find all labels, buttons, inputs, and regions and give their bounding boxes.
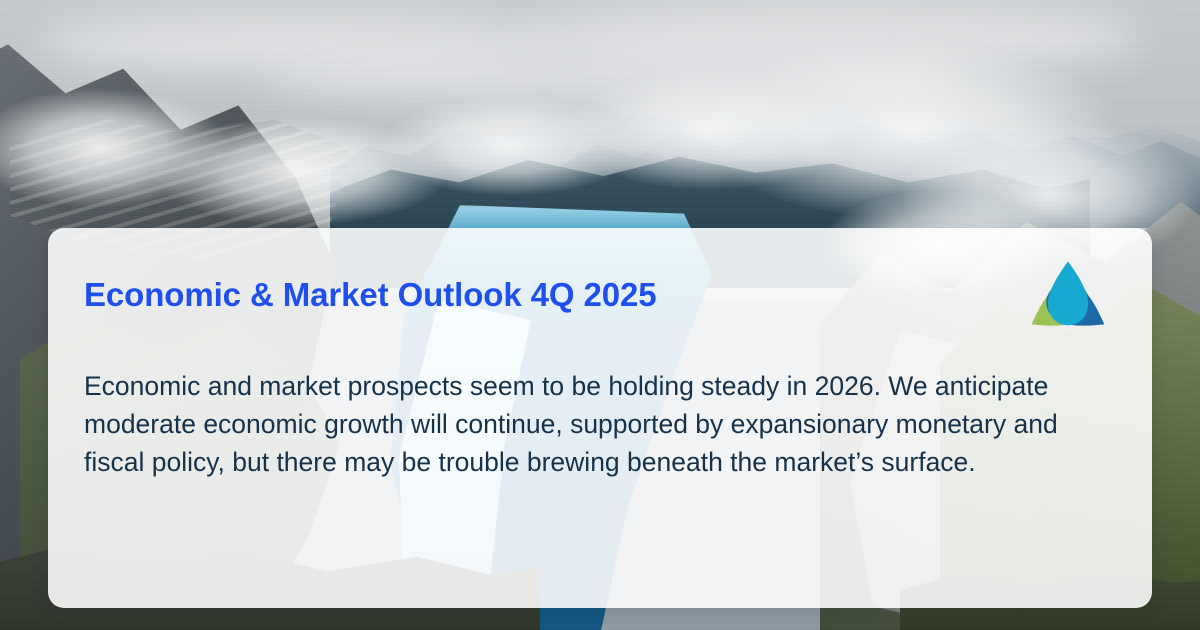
share-card-canvas: Economic & Market Outlook 4Q 2025 Econom… xyxy=(0,0,1200,630)
logo-leaf-cyan xyxy=(1048,261,1088,325)
summary-paragraph: Economic and market prospects seem to be… xyxy=(84,315,1096,481)
brand-logo xyxy=(1026,258,1110,342)
content-card: Economic & Market Outlook 4Q 2025 Econom… xyxy=(48,228,1152,608)
sky-cloud-streak xyxy=(260,58,960,104)
page-title: Economic & Market Outlook 4Q 2025 xyxy=(84,276,1096,315)
